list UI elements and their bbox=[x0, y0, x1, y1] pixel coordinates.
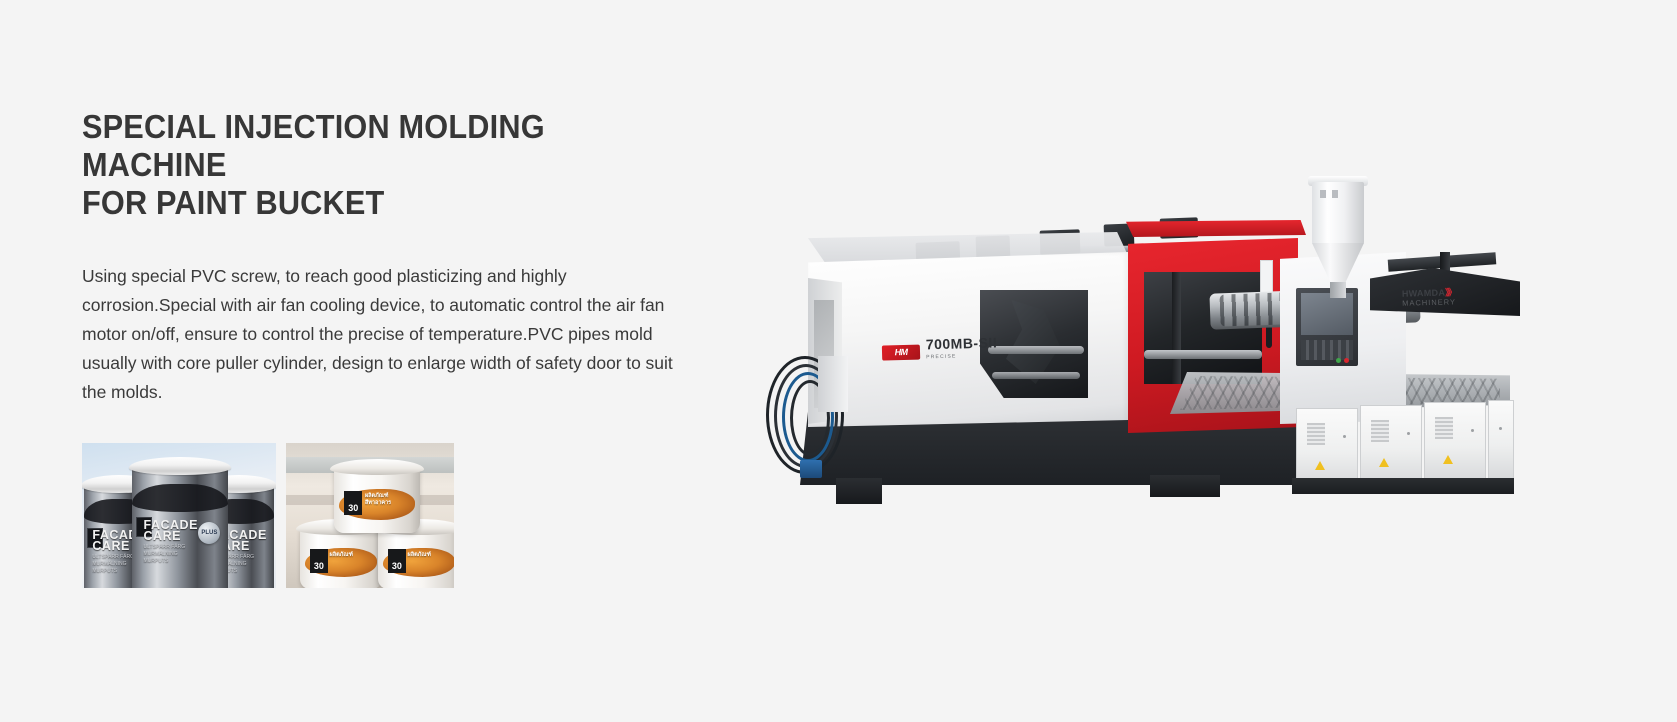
machine-foot-left bbox=[836, 478, 882, 504]
bucket-top: 30 ผลิตภัณฑ์สีทาอาคาร bbox=[334, 467, 420, 533]
bucket-label-text: ผลิตภัณฑ์ bbox=[330, 552, 353, 559]
bucket-bottom-right: 30 ผลิตภัณฑ์ bbox=[378, 527, 454, 588]
manufacturer-logo-icon: HM bbox=[882, 344, 920, 360]
page-title: SPECIAL INJECTION MOLDING MACHINE FOR PA… bbox=[82, 108, 677, 222]
paint-cans-photo[interactable]: FACADE CARE ULTSPÄRR FÄRGMURMÅLNINGMURPU… bbox=[82, 443, 276, 588]
machine-nameplate: HM 700MB-SII PRECISE bbox=[882, 336, 998, 365]
brand-subtitle: MACHINERY bbox=[1402, 297, 1456, 308]
machine-model-subtitle: PRECISE bbox=[926, 349, 998, 364]
machine-foot-right bbox=[1150, 475, 1220, 497]
product-photo-gallery: FACADE CARE ULTSPÄRR FÄRGMURMÅLNINGMURPU… bbox=[82, 443, 454, 588]
paint-can-center: FACADE CARE ULTSPÄRR FÄRGMURMÅLNINGMURPU… bbox=[132, 466, 228, 588]
hopper-latch-icon bbox=[1320, 190, 1326, 198]
control-screen[interactable] bbox=[1301, 293, 1353, 335]
cabinet-vent-icon bbox=[1371, 420, 1389, 442]
bucket-badge: 30 bbox=[344, 491, 362, 515]
warning-icon bbox=[1379, 458, 1389, 467]
control-keypad[interactable] bbox=[1301, 340, 1353, 360]
cabinet-vent-icon bbox=[1307, 423, 1325, 445]
description-paragraph: Using special PVC screw, to reach good p… bbox=[82, 262, 682, 407]
warning-icon bbox=[1443, 455, 1453, 464]
machine-base-right bbox=[1292, 478, 1514, 494]
safety-door-top-rail bbox=[1126, 220, 1306, 237]
tie-rod-1 bbox=[988, 346, 1084, 354]
bucket-badge: 30 bbox=[310, 549, 328, 573]
text-column: SPECIAL INJECTION MOLDING MACHINE FOR PA… bbox=[82, 108, 722, 407]
tie-rod-2 bbox=[992, 372, 1080, 379]
electrical-cabinet-4 bbox=[1488, 400, 1514, 482]
plastic-buckets-photo[interactable]: 30 ผลิตภัณฑ์ 30 ผลิตภัณฑ์ 30 ผลิตภัณฑ์สี… bbox=[286, 443, 454, 588]
bucket-badge: 30 bbox=[388, 549, 406, 573]
cabinet-vent-icon bbox=[1435, 417, 1453, 439]
electrical-cabinet-2 bbox=[1360, 405, 1422, 487]
hydraulic-valve bbox=[800, 460, 822, 478]
hose-junction-box bbox=[818, 356, 848, 412]
warning-icon bbox=[1315, 461, 1325, 470]
mold-platen bbox=[1172, 272, 1181, 384]
hopper-throat bbox=[1330, 282, 1346, 298]
bucket-label-text: ผลิตภัณฑ์ bbox=[408, 552, 431, 559]
injection-molding-machine-photo[interactable]: HM 700MB-SII PRECISE HWAMDA》》 MACHINERY bbox=[740, 160, 1560, 560]
cabinet-fastener bbox=[1343, 435, 1346, 438]
electrical-cabinet-3 bbox=[1424, 402, 1486, 484]
status-light-green bbox=[1336, 358, 1341, 363]
cabinet-fastener bbox=[1471, 429, 1474, 432]
machine-model-label: 700MB-SII PRECISE bbox=[926, 336, 998, 364]
status-light-red bbox=[1344, 358, 1349, 363]
bucket-bottom-left: 30 ผลิตภัณฑ์ bbox=[300, 527, 382, 588]
safety-door-tie-rod bbox=[1144, 350, 1262, 359]
cabinet-fastener bbox=[1407, 432, 1410, 435]
machine-brandmark: HWAMDA》》 MACHINERY bbox=[1402, 287, 1456, 308]
cabinet-fastener bbox=[1499, 427, 1502, 430]
can-label-center: FACADE CARE ULTSPÄRR FÄRGMURMÅLNINGMURPU… bbox=[144, 520, 198, 565]
hopper-latch-icon bbox=[1332, 190, 1338, 198]
machine-model-text: 700MB-SII bbox=[926, 334, 998, 352]
bucket-label-text: ผลิตภัณฑ์สีทาอาคาร bbox=[365, 493, 391, 507]
brand-arrows-icon: 》》 bbox=[1445, 287, 1455, 297]
